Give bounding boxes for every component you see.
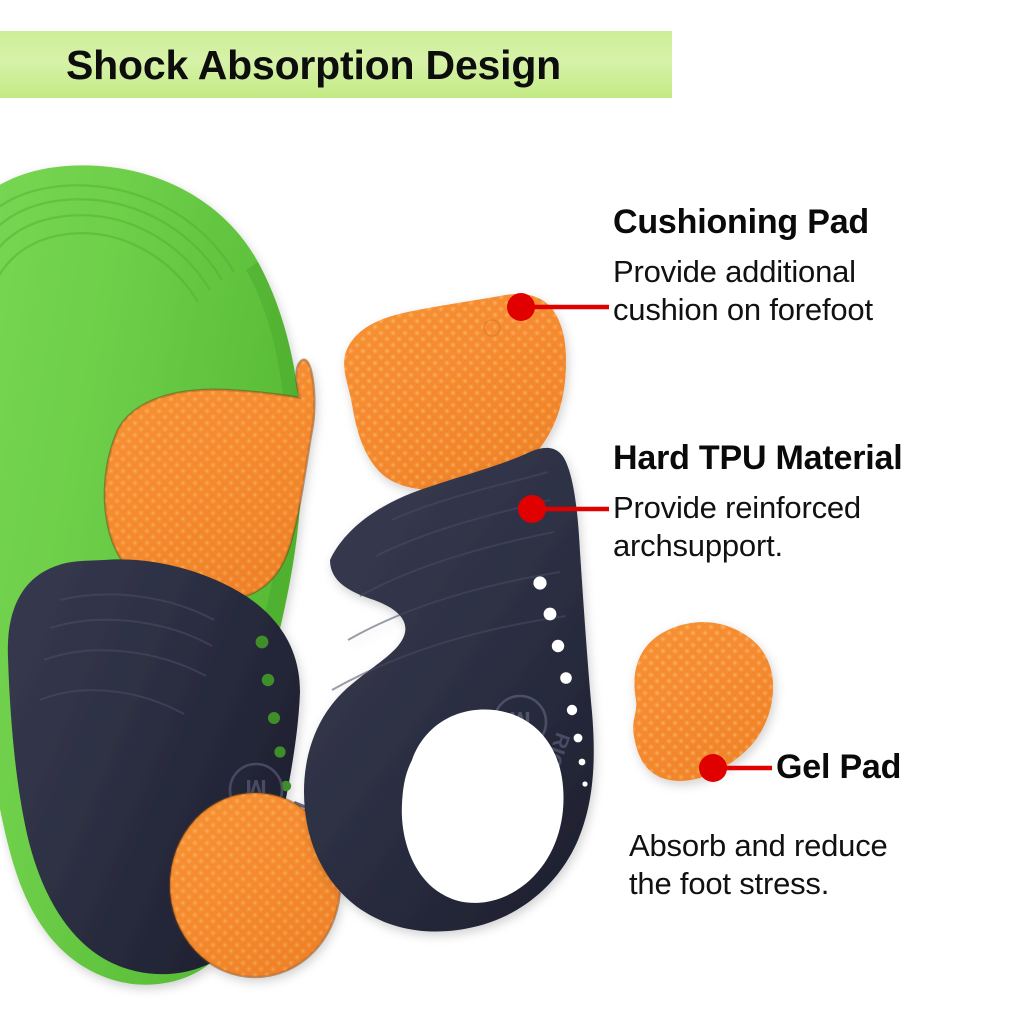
callout-hard-tpu-line1: Provide reinforced: [613, 489, 902, 527]
callout-gel-pad-title: Gel Pad: [776, 748, 901, 787]
full-insole-product: M RIGHT: [0, 165, 350, 984]
tpu-arch-support-product: M RIGHT: [304, 448, 594, 932]
callout-cushioning-pad: Cushioning Pad Provide additional cushio…: [613, 203, 873, 328]
callout-hard-tpu-title: Hard TPU Material: [613, 439, 902, 478]
callout-gel-pad-body: Absorb and reduce the foot stress.: [629, 827, 888, 902]
marker-dot-hard-tpu: [518, 495, 546, 523]
callout-gel-pad-line2: the foot stress.: [629, 865, 888, 903]
callout-hard-tpu-body: Provide reinforced archsupport.: [613, 489, 902, 564]
infographic-page: Shock Absorption Design: [0, 0, 1024, 1024]
callout-hard-tpu-material: Hard TPU Material Provide reinforced arc…: [613, 439, 902, 564]
callout-hard-tpu-line2: archsupport.: [613, 527, 902, 565]
leader-cushioning-pad: [507, 293, 609, 321]
callout-cushioning-pad-body: Provide additional cushion on forefoot: [613, 253, 873, 328]
callout-gel-pad-line1: Absorb and reduce: [629, 827, 888, 865]
callout-cushioning-pad-title: Cushioning Pad: [613, 203, 873, 242]
callout-cushioning-pad-line1: Provide additional: [613, 253, 873, 291]
marker-dot-gel-pad: [699, 754, 727, 782]
callout-cushioning-pad-line2: cushion on forefoot: [613, 291, 873, 329]
marker-dot-cushioning-pad: [507, 293, 535, 321]
